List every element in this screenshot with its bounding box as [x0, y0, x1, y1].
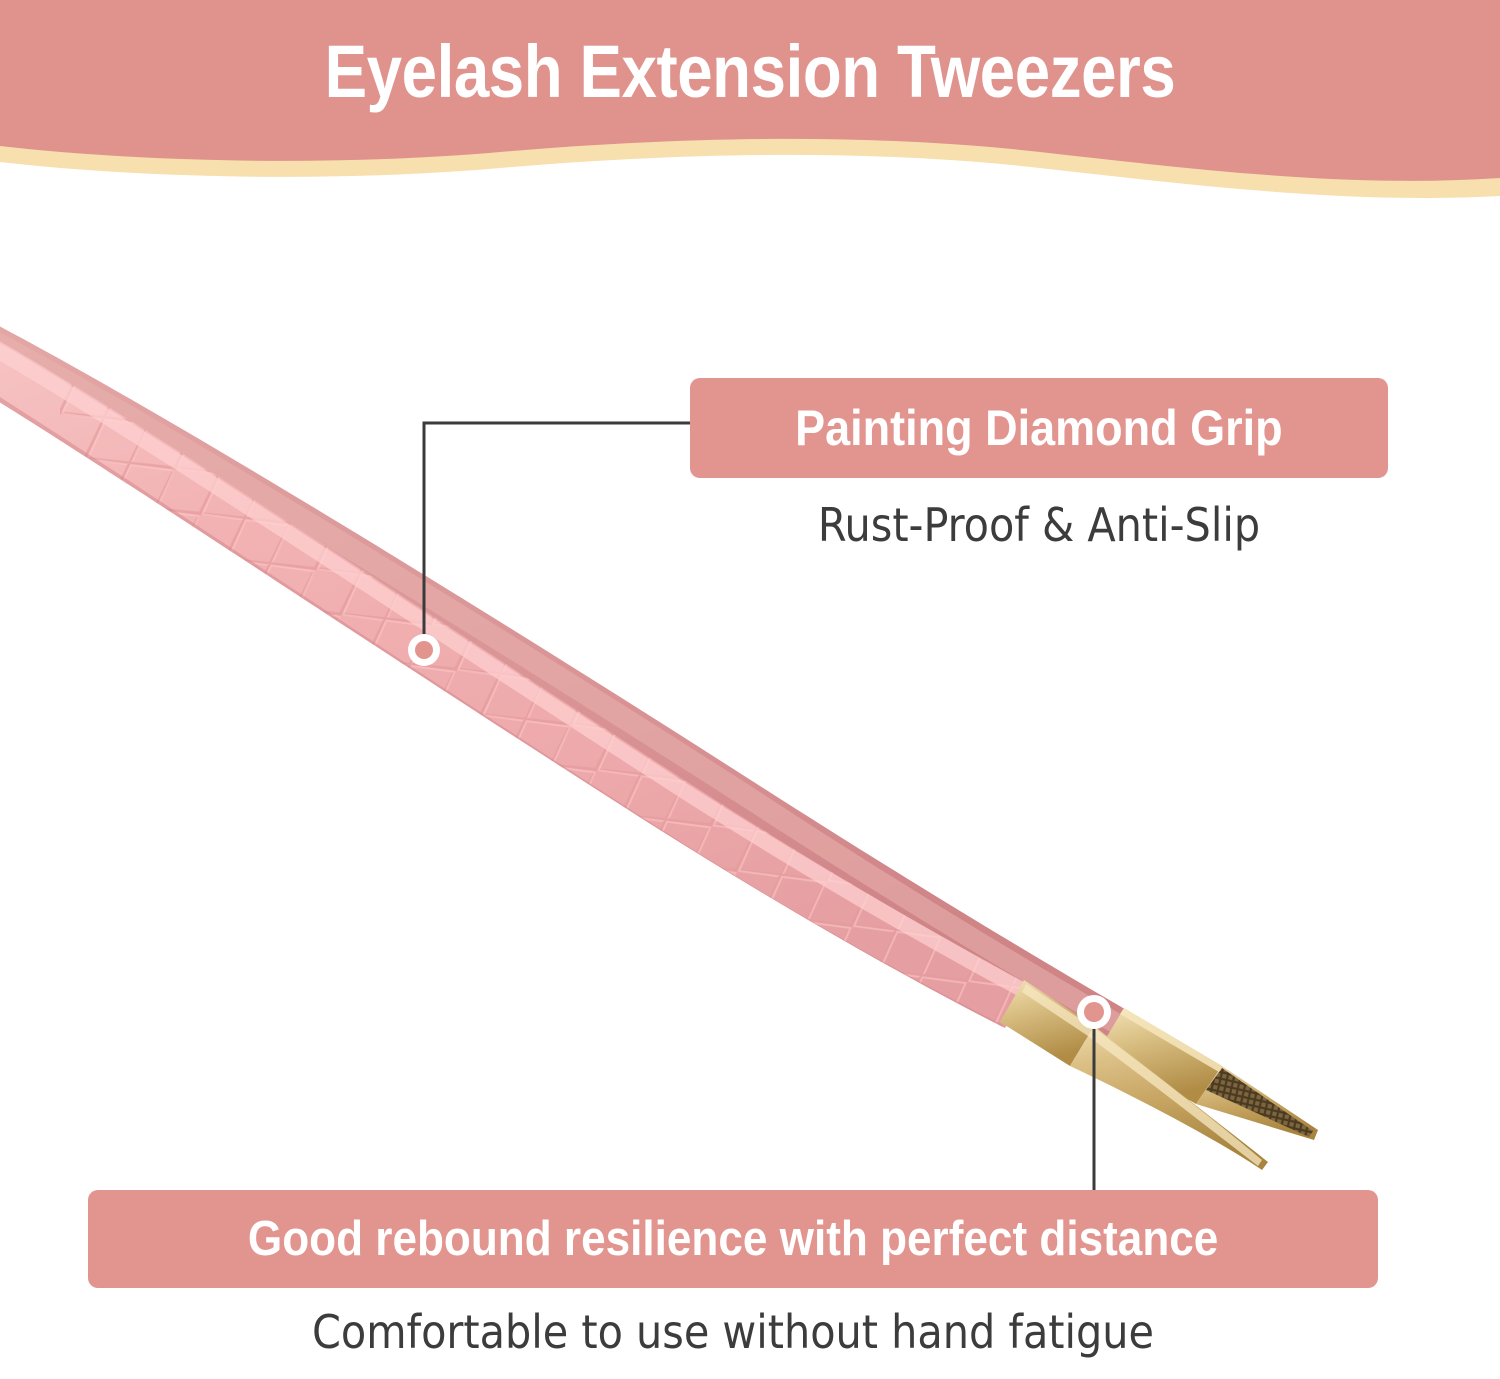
infographic-page: Eyelash Extension Tweezers [0, 0, 1500, 1379]
callout-layer: Painting Diamond Grip Rust-Proof & Anti-… [0, 0, 1500, 1379]
callout-label-rebound: Good rebound resilience with perfect dis… [248, 1211, 1218, 1267]
callout-painting-diamond-grip[interactable]: Painting Diamond Grip [690, 378, 1388, 478]
callout-leader-lines [0, 0, 1500, 1379]
grip-marker-dot[interactable] [408, 634, 440, 666]
callout-label-grip: Painting Diamond Grip [795, 399, 1283, 457]
rebound-marker-dot[interactable] [1077, 995, 1111, 1029]
callout-subtitle-rebound: Comfortable to use without hand fatigue [88, 1305, 1378, 1359]
callout-good-rebound-resilience[interactable]: Good rebound resilience with perfect dis… [88, 1190, 1378, 1288]
callout-subtitle-grip: Rust-Proof & Anti-Slip [690, 498, 1388, 552]
grip-leader-line [424, 423, 692, 648]
